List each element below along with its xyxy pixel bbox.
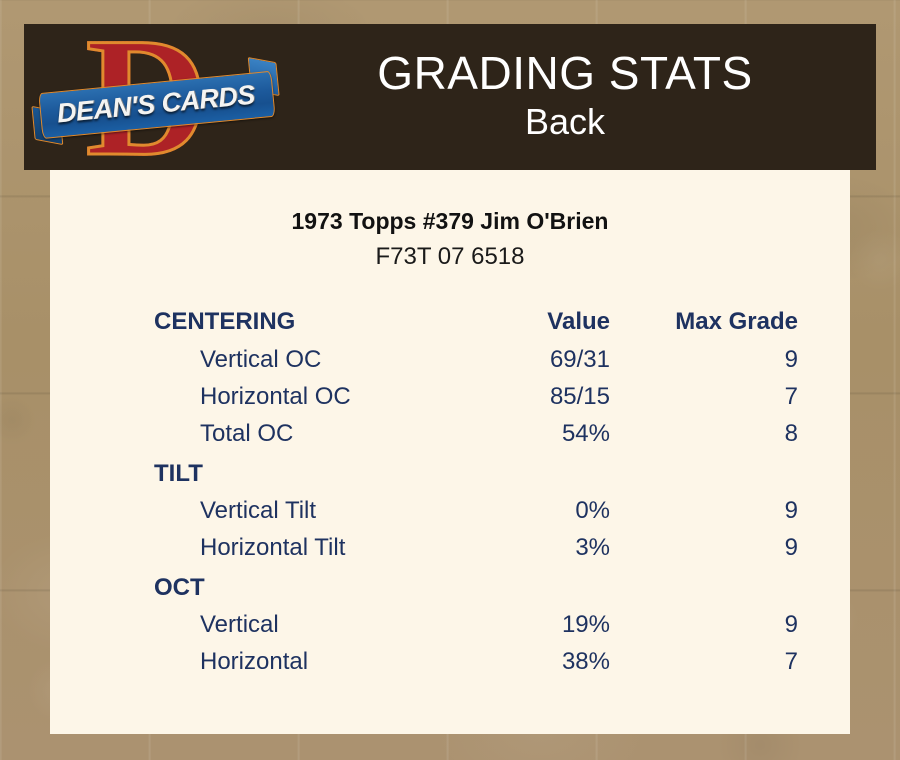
stat-label: Horizontal OC — [50, 378, 410, 415]
stat-value: 0% — [410, 492, 632, 529]
stat-value: 54% — [410, 415, 632, 452]
table-row: Horizontal38%7 — [50, 643, 850, 680]
column-header-max-grade: Max Grade — [632, 308, 850, 341]
stat-label: Vertical OC — [50, 341, 410, 378]
table-row: Total OC54%8 — [50, 415, 850, 452]
stat-max-grade: 9 — [632, 606, 850, 643]
content-panel: 1973 Topps #379 Jim O'Brien F73T 07 6518… — [50, 170, 850, 734]
stat-max-grade: 7 — [632, 378, 850, 415]
table-row: Vertical19%9 — [50, 606, 850, 643]
section-header-label: TILT — [50, 452, 410, 492]
stat-label: Horizontal — [50, 643, 410, 680]
stat-value: 69/31 — [410, 341, 632, 378]
stat-max-grade: 7 — [632, 643, 850, 680]
stat-label: Vertical Tilt — [50, 492, 410, 529]
deans-cards-logo[interactable]: D DEAN'S CARDS — [24, 24, 284, 170]
section-header-row: OCT — [50, 566, 850, 606]
stat-value: 3% — [410, 529, 632, 566]
page-subtitle: Back — [284, 99, 846, 144]
stat-value: 19% — [410, 606, 632, 643]
table-row: Horizontal Tilt3%9 — [50, 529, 850, 566]
logo-ribbon: DEAN'S CARDS — [30, 66, 282, 146]
stat-label: Total OC — [50, 415, 410, 452]
grading-stats-table: CENTERING Value Max Grade Vertical OC69/… — [50, 308, 850, 680]
section-header-spacer-value — [410, 452, 632, 492]
column-header-category: CENTERING — [50, 308, 410, 341]
section-header-spacer-grade — [632, 452, 850, 492]
page-title: GRADING STATS — [284, 50, 846, 97]
stat-max-grade: 8 — [632, 415, 850, 452]
stat-max-grade: 9 — [632, 492, 850, 529]
table-row: Horizontal OC85/157 — [50, 378, 850, 415]
stat-max-grade: 9 — [632, 529, 850, 566]
header-title-block: GRADING STATS Back — [284, 50, 876, 144]
card-title: 1973 Topps #379 Jim O'Brien — [50, 208, 850, 235]
stat-label: Horizontal Tilt — [50, 529, 410, 566]
table-body: Vertical OC69/319Horizontal OC85/157Tota… — [50, 341, 850, 680]
stat-label: Vertical — [50, 606, 410, 643]
page-root: D DEAN'S CARDS GRADING STATS Back 1973 T… — [0, 0, 900, 760]
header-bar: D DEAN'S CARDS GRADING STATS Back — [24, 24, 876, 170]
table-header-row: CENTERING Value Max Grade — [50, 308, 850, 341]
section-header-label: OCT — [50, 566, 410, 606]
card-id: F73T 07 6518 — [50, 243, 850, 271]
table-row: Vertical Tilt0%9 — [50, 492, 850, 529]
stat-value: 38% — [410, 643, 632, 680]
table-row: Vertical OC69/319 — [50, 341, 850, 378]
section-header-spacer-grade — [632, 566, 850, 606]
stat-value: 85/15 — [410, 378, 632, 415]
table-head: CENTERING Value Max Grade — [50, 308, 850, 341]
stat-max-grade: 9 — [632, 341, 850, 378]
section-header-row: TILT — [50, 452, 850, 492]
section-header-spacer-value — [410, 566, 632, 606]
column-header-value: Value — [410, 308, 632, 341]
